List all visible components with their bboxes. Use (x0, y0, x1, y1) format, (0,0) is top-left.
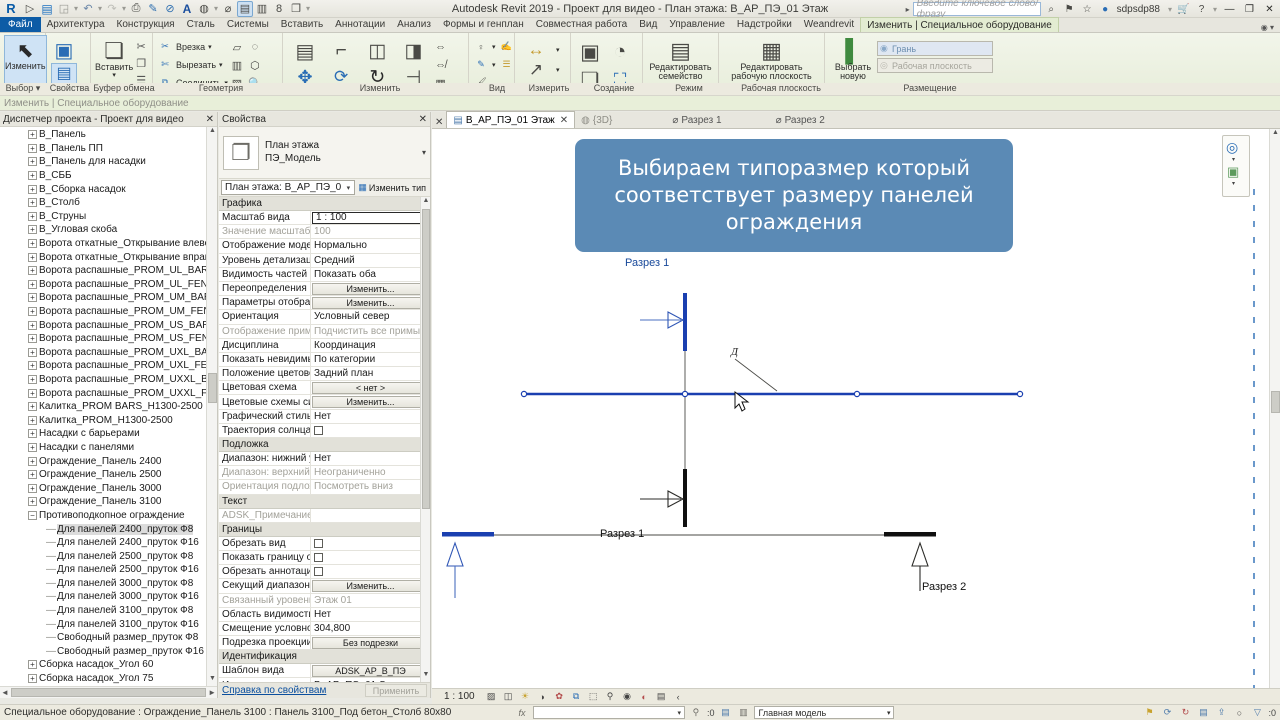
tree-expand-icon[interactable]: + (28, 375, 37, 384)
browser-tree-item[interactable]: +Сборка насадок_Угол 60 (0, 658, 217, 672)
property-row[interactable]: Положение цветовой с...Задний план (219, 367, 430, 381)
undo-icon[interactable]: ↶ (80, 1, 96, 17)
tree-expand-icon[interactable]: + (28, 280, 37, 289)
close-hidden-windows-icon[interactable]: ▥ (254, 1, 270, 17)
account-caret-icon[interactable]: ▾ (1167, 5, 1173, 14)
revit-logo-icon[interactable]: R (2, 1, 20, 17)
visual-style-icon[interactable]: ◫ (502, 690, 515, 703)
tree-expand-icon[interactable]: + (28, 130, 37, 139)
properties-scroll-thumb[interactable] (422, 209, 430, 509)
tree-expand-icon[interactable]: + (28, 212, 37, 221)
view-tab-floorplan[interactable]: ▤ B_AP_ПЭ_01 Этаж ✕ (446, 111, 575, 128)
property-input[interactable]: 1 : 100 (312, 212, 429, 224)
exclude-options-icon[interactable]: ○ (1232, 706, 1246, 720)
browser-tree-item[interactable]: +Ограждение_Панель 3100 (0, 495, 217, 509)
property-row[interactable]: Цветовая схема< нет > (219, 381, 430, 395)
tree-expand-icon[interactable]: + (28, 253, 37, 262)
worksets-status-icon[interactable]: ▤ (1196, 706, 1210, 720)
close-all-views-icon[interactable]: ✕ (432, 117, 446, 128)
navigation-controls[interactable]: ◎ ▾ ▣ ▾ (1222, 135, 1250, 197)
properties-help-link[interactable]: Справка по свойствам (222, 685, 326, 696)
tree-expand-icon[interactable]: + (28, 321, 37, 330)
unpin-icon[interactable]: ⇎ (432, 56, 450, 74)
paint-icon[interactable]: ◌ (246, 38, 264, 56)
property-row[interactable]: Диапазон: верхний уро...Неограниченно (219, 466, 430, 480)
scroll-up-icon[interactable]: ▲ (422, 197, 430, 208)
tree-expand-icon[interactable]: + (28, 157, 37, 166)
qat-overflow-icon[interactable]: ▾ (305, 4, 311, 13)
placement-option-workplane[interactable]: ◎ Рабочая плоскость (877, 58, 993, 73)
property-row[interactable]: ДисциплинаКоординация (219, 339, 430, 353)
property-button[interactable]: Изменить... (312, 297, 429, 309)
drawing-canvas[interactable]: Выбираем типоразмер который соответствуе… (432, 129, 1280, 698)
placement-option-face[interactable]: ◉ Грань (877, 41, 993, 56)
property-value[interactable]: Подчистить все примык... (311, 325, 430, 338)
property-value[interactable]: Этаж 01 (311, 594, 430, 607)
property-row[interactable]: Ориентация подложкиПосмотреть вниз (219, 480, 430, 494)
property-value[interactable]: B_AP_ПЭ_01 Этаж (311, 678, 430, 682)
property-name: Смещение условного ... (219, 622, 311, 635)
property-button[interactable]: ADSK_AP_B_ПЭ (312, 665, 429, 677)
property-checkbox[interactable] (314, 539, 323, 548)
property-row[interactable]: Переопределения види...Изменить... (219, 282, 430, 296)
create-similar-icon[interactable]: ▣ (575, 38, 605, 66)
copy-icon[interactable]: ❐ (133, 55, 149, 71)
browser-tree-item[interactable]: +Ограждение_Панель 2500 (0, 468, 217, 482)
scroll-left-icon[interactable]: ◄ (1, 688, 9, 697)
property-value[interactable] (311, 565, 430, 578)
property-value[interactable]: Изменить... (311, 579, 430, 592)
worksharing-display-icon[interactable]: ▤ (655, 690, 668, 703)
tree-expand-icon[interactable]: + (28, 389, 37, 398)
steering-wheel-icon[interactable]: ◎ (1226, 139, 1238, 156)
browser-tree-item[interactable]: +B_Угловая скоба (0, 223, 217, 237)
property-row[interactable]: Цветовые схемы систе...Изменить... (219, 395, 430, 409)
dropdown-caret-icon[interactable]: ▾ (97, 4, 103, 13)
reveal-hidden-elements-icon[interactable]: ◐ (638, 690, 651, 703)
split-face-icon[interactable]: ▱ (228, 38, 246, 56)
close-icon[interactable]: ✕ (419, 114, 427, 125)
chevron-down-icon[interactable]: ▾ (677, 709, 684, 717)
property-button[interactable]: Без подрезки (312, 637, 429, 649)
cut-icon[interactable]: ✂ (133, 38, 149, 54)
properties-scrollbar[interactable]: ▲ ▼ (420, 197, 430, 682)
properties-group-header[interactable]: Идентификация⌃ (219, 650, 430, 664)
browser-tree-item[interactable]: —Для панелей 2400_пруток Ф16 (0, 536, 217, 550)
view-tab-section-1[interactable]: ⌀ Разрез 1 (666, 112, 727, 128)
measure-along-row[interactable]: ↗ ▾ (519, 59, 560, 81)
browser-tree-item[interactable]: +Ворота распашные_PROM_UXXL_BARS (0, 373, 217, 387)
browser-tree-item[interactable]: +Сборка насадок_Угол 90 (0, 685, 217, 686)
help-icon[interactable]: ? (1194, 2, 1209, 17)
wall-join-icon[interactable]: ▥ (228, 56, 246, 74)
browser-tree-item[interactable]: +Калитка_PROM BARS_H1300-2500 (0, 400, 217, 414)
canvas-vertical-scrollbar[interactable]: ▲ ▼ (1269, 129, 1280, 698)
tree-expand-icon[interactable]: + (28, 497, 37, 506)
property-row[interactable]: Графический стиль от...Нет (219, 410, 430, 424)
tree-expand-icon[interactable]: + (28, 443, 37, 452)
property-row[interactable]: Значение масштаба 1:100 (219, 225, 430, 239)
tree-expand-icon[interactable]: + (28, 239, 37, 248)
browser-horizontal-scrollbar[interactable]: ◄ ► (0, 686, 217, 698)
property-value[interactable]: 1 : 100 (311, 211, 430, 224)
tree-expand-icon[interactable]: + (28, 470, 37, 479)
property-value[interactable]: Нет (311, 608, 430, 621)
browser-hscroll-thumb[interactable] (11, 688, 206, 697)
tree-expand-icon[interactable]: + (28, 266, 37, 275)
property-value[interactable]: Посмотреть вниз (311, 480, 430, 493)
help-caret-icon[interactable]: ▾ (1212, 5, 1218, 14)
design-options-icon[interactable]: ▥ (736, 706, 750, 720)
nav-caret-icon[interactable]: ▾ (1232, 180, 1235, 187)
property-row[interactable]: Секущий диапазонИзменить... (219, 579, 430, 593)
tree-expand-icon[interactable]: + (28, 293, 37, 302)
browser-tree-item[interactable]: −Противоподкопное ограждение (0, 509, 217, 523)
dropdown-caret-icon[interactable]: ▾ (73, 4, 79, 13)
browser-tree-item[interactable]: +B_Панель ПП (0, 142, 217, 156)
tree-expand-icon[interactable]: + (28, 402, 37, 411)
tree-expand-icon[interactable]: + (28, 334, 37, 343)
browser-tree-item[interactable]: +Сборка насадок_Угол 75 (0, 672, 217, 686)
view-tab-3d[interactable]: ◍ {3D} (575, 112, 618, 128)
communication-center-icon[interactable]: ⚑ (1062, 2, 1077, 17)
tree-expand-icon[interactable]: + (28, 416, 37, 425)
offset-icon[interactable]: ⌐ (323, 38, 359, 64)
property-row[interactable]: Смещение условного ...304,800 (219, 622, 430, 636)
tree-expand-icon[interactable]: + (28, 484, 37, 493)
edit-type-button[interactable]: ▦ Изменить тип (358, 182, 428, 193)
browser-tree-item[interactable]: +B_Струны (0, 210, 217, 224)
properties-icon[interactable]: ▣ (50, 37, 78, 63)
property-value[interactable]: Задний план (311, 367, 430, 380)
tree-expand-icon[interactable]: + (28, 361, 37, 370)
tree-collapse-icon[interactable]: − (28, 511, 37, 520)
browser-tree-item[interactable]: +B_Столб (0, 196, 217, 210)
chevron-down-icon[interactable]: ▾ (422, 148, 426, 157)
mirror-pick-axis-icon[interactable]: ◫ (359, 38, 395, 64)
property-row[interactable]: Обрезать вид (219, 537, 430, 551)
browser-tree-item[interactable]: +Ворота распашные_PROM_UL_BARS (0, 264, 217, 278)
tree-expand-icon[interactable]: + (28, 185, 37, 194)
property-row[interactable]: Масштаб вида1 : 100 (219, 211, 430, 225)
cut-geometry-row[interactable]: ✂ Врезка ▾ (157, 38, 228, 55)
section-icon[interactable]: ⌀ (220, 1, 236, 17)
property-button[interactable]: Изменить... (312, 283, 429, 295)
favorites-icon[interactable]: ☆ (1080, 2, 1095, 17)
align-icon[interactable]: ▤ (287, 38, 323, 64)
property-value[interactable]: 100 (311, 225, 430, 238)
browser-tree-item[interactable]: —Для панелей 2400_пруток Ф8 (0, 522, 217, 536)
tree-expand-icon[interactable]: + (28, 198, 37, 207)
account-icon[interactable]: ● (1098, 2, 1113, 17)
tree-expand-icon[interactable]: + (28, 429, 37, 438)
property-row[interactable]: Отображение примык...Подчистить все прим… (219, 325, 430, 339)
scroll-down-icon[interactable]: ▼ (208, 675, 217, 686)
project-browser-tree[interactable]: +B_Панель+B_Панель ПП+B_Панель для насад… (0, 127, 217, 686)
property-row[interactable]: Уровень детализацииСредний (219, 254, 430, 268)
browser-tree-item[interactable]: +Ворота распашные_PROM_UXL_FENCE (0, 359, 217, 373)
lock-3d-view-icon[interactable]: ⚲ (604, 690, 617, 703)
restore-button[interactable]: ❐ (1241, 1, 1258, 17)
infocenter-expand-icon[interactable]: ▸ (906, 5, 910, 14)
ribbon-tab-analyze[interactable]: Анализ (391, 17, 437, 32)
measure-caret-icon[interactable]: ▾ (556, 46, 560, 54)
ribbon-tab-steel[interactable]: Сталь (181, 17, 221, 32)
property-row[interactable]: Видимость частейПоказать оба (219, 268, 430, 282)
close-icon[interactable]: ✕ (560, 115, 568, 126)
minimize-button[interactable]: — (1221, 1, 1238, 17)
ribbon-tab-architecture[interactable]: Архитектура (41, 17, 111, 32)
browser-tree-item[interactable]: —Свободный размер_пруток Ф16 (0, 645, 217, 659)
property-value[interactable]: < нет > (311, 381, 430, 394)
app-store-icon[interactable]: 🛒 (1176, 2, 1191, 17)
view-tab-floorplan-label: B_AP_ПЭ_01 Этаж (466, 115, 555, 126)
ribbon-tab-insert[interactable]: Вставить (275, 17, 329, 32)
browser-tree-item[interactable]: —Для панелей 2500_пруток Ф16 (0, 563, 217, 577)
property-value[interactable]: Условный север (311, 310, 430, 323)
search-input[interactable]: Введите ключевое слово/фразу (913, 2, 1041, 16)
tree-expand-icon[interactable]: + (28, 144, 37, 153)
browser-tree-item[interactable]: +B_СББ (0, 169, 217, 183)
tree-expand-icon[interactable]: + (28, 225, 37, 234)
property-value[interactable]: Неограниченно (311, 466, 430, 479)
ribbon-tab-massing-site[interactable]: Формы и генплан (437, 17, 530, 32)
properties-list[interactable]: Графика⌃Масштаб вида1 : 100Значение масш… (219, 197, 430, 682)
dropdown-caret-icon[interactable]: ▾ (213, 4, 219, 13)
ribbon-tab-annotate[interactable]: Аннотации (329, 17, 391, 32)
property-value[interactable]: Изменить... (311, 395, 430, 408)
property-value[interactable] (311, 509, 430, 522)
beam-join-icon[interactable]: ⬡ (246, 56, 264, 74)
demolish-row[interactable]: ✄ Вырезать ▾ (157, 56, 228, 73)
crop-view-icon[interactable]: ⧉ (570, 690, 583, 703)
scroll-up-icon[interactable]: ▲ (208, 127, 217, 138)
browser-tree-item[interactable]: +Ворота распашные_PROM_UL_FENCE (0, 278, 217, 292)
browser-tree-item[interactable]: +Ограждение_Панель 3000 (0, 481, 217, 495)
properties-group-header[interactable]: Подложка⌃ (219, 438, 430, 452)
property-row[interactable]: ADSK_Примечание к в... (219, 509, 430, 523)
view-selector-combo[interactable]: План этажа: B_AP_ПЭ_01 Этаж ▾ (221, 180, 355, 195)
temporary-hide-isolate-icon[interactable]: ◉ (621, 690, 634, 703)
aligned-dimension-icon[interactable]: ⊘ (162, 1, 178, 17)
property-row[interactable]: Траектория солнца (219, 424, 430, 438)
view-tab-section-2[interactable]: ⌀ Разрез 2 (770, 112, 831, 128)
property-value[interactable] (311, 551, 430, 564)
design-option-combo[interactable]: Главная модель ▾ (754, 706, 894, 719)
editing-requests-icon[interactable]: ⚑ (1142, 706, 1156, 720)
hide-element-row[interactable]: ♀ ▾ ✍ (473, 38, 515, 55)
ribbon-tab-file[interactable]: Файл (0, 17, 41, 32)
browser-tree-item[interactable]: +Ворота откатные_Открывание вправо (0, 250, 217, 264)
close-icon[interactable]: ✕ (206, 114, 214, 125)
property-row[interactable]: Параметры отображен...Изменить... (219, 296, 430, 310)
properties-group-header[interactable]: Графика⌃ (219, 197, 430, 211)
tree-expand-icon[interactable]: + (28, 674, 37, 683)
reload-latest-icon[interactable]: ↻ (1178, 706, 1192, 720)
property-checkbox[interactable] (314, 567, 323, 576)
scroll-right-icon[interactable]: ► (208, 688, 216, 697)
property-row[interactable]: ОриентацияУсловный север (219, 310, 430, 324)
properties-group-header[interactable]: Границы⌃ (219, 523, 430, 537)
browser-tree-item[interactable]: +Ворота откатные_Открывание влево (0, 237, 217, 251)
browser-tree-item[interactable]: —Для панелей 3100_пруток Ф8 (0, 604, 217, 618)
property-row[interactable]: Отображение моделиНормально (219, 239, 430, 253)
infocenter-search-icon[interactable]: ⌕ (1044, 2, 1059, 17)
property-row[interactable]: Имя видаB_AP_ПЭ_01 Этаж (219, 678, 430, 682)
status-filter-input[interactable]: ▾ (533, 706, 685, 719)
split-with-gap-icon[interactable]: ⇔ (432, 38, 450, 56)
property-row[interactable]: Область видимостиНет (219, 608, 430, 622)
property-value[interactable]: Без подрезки (311, 636, 430, 649)
measure-between-row[interactable]: ↔ ▾ (519, 41, 560, 58)
save-icon[interactable]: ▤ (39, 1, 55, 17)
ribbon-tab-collaborate[interactable]: Совместная работа (530, 17, 634, 32)
relinquish-icon[interactable]: ⇪ (1214, 706, 1228, 720)
property-value[interactable]: Нормально (311, 239, 430, 252)
property-value[interactable]: Средний (311, 254, 430, 267)
property-row[interactable]: Связанный уровеньЭтаж 01 (219, 594, 430, 608)
filter-icon[interactable]: ▽ (1250, 706, 1264, 720)
tree-expand-icon[interactable]: + (28, 348, 37, 357)
shadows-icon[interactable]: ◑ (536, 690, 549, 703)
view-scale-label[interactable]: 1 : 100 (444, 691, 475, 702)
browser-tree-item-label: B_Панель для насадки (39, 156, 146, 167)
property-row[interactable]: Обрезать аннотации (219, 565, 430, 579)
default-3d-view-icon[interactable]: ◍ (196, 1, 212, 17)
property-value[interactable]: Нет (311, 452, 430, 465)
property-checkbox[interactable] (314, 553, 323, 562)
browser-vertical-scrollbar[interactable]: ▲ ▼ (206, 127, 217, 686)
property-value[interactable] (311, 424, 430, 437)
property-value[interactable] (311, 537, 430, 550)
ribbon-tab-manage[interactable]: Управление (663, 17, 731, 32)
paste-caret-icon[interactable]: ▾ (112, 72, 116, 79)
tree-expand-icon[interactable]: + (28, 660, 37, 669)
create-group-icon[interactable]: ◔ (605, 38, 635, 66)
type-selector-preview[interactable]: ❐ План этажа ПЭ_Модель ▾ (219, 127, 430, 179)
properties-group-header[interactable]: Текст⌃ (219, 495, 430, 509)
scroll-up-icon[interactable]: ▲ (1271, 129, 1280, 140)
render-dialog-icon[interactable]: ✿ (553, 690, 566, 703)
redo-icon[interactable]: ↷ (104, 1, 120, 17)
property-button[interactable]: < нет > (312, 382, 429, 394)
browser-scroll-thumb[interactable] (208, 373, 217, 403)
ribbon-minimize-icon[interactable]: ◉ ▾ (1261, 23, 1280, 32)
dropdown-caret-icon[interactable]: ▾ (121, 4, 127, 13)
ribbon-tab-view[interactable]: Вид (633, 17, 663, 32)
property-value[interactable]: Нет (311, 410, 430, 423)
browser-tree-item[interactable]: +Калитка_PROM_H1300-2500 (0, 413, 217, 427)
show-crop-region-icon[interactable]: ⬚ (587, 690, 600, 703)
print-icon[interactable]: ⎙ (128, 1, 144, 17)
property-button[interactable]: Изменить... (312, 580, 429, 592)
property-checkbox[interactable] (314, 426, 323, 435)
detail-level-icon[interactable]: ▨ (485, 690, 498, 703)
tree-expand-icon[interactable]: + (28, 457, 37, 466)
chevron-down-icon[interactable]: ▾ (342, 184, 354, 192)
measure-icon[interactable]: ✎ (145, 1, 161, 17)
linework-caret-icon[interactable]: ▾ (492, 61, 496, 69)
property-value[interactable]: Изменить... (311, 296, 430, 309)
property-row[interactable]: Подрезка проекцииБез подрезки (219, 636, 430, 650)
browser-tree-item[interactable]: +Насадки с панелями (0, 441, 217, 455)
browser-tree-item[interactable]: +Ворота распашные_PROM_US_BARS (0, 318, 217, 332)
browser-tree-item[interactable]: +Ворота распашные_PROM_US_FENCE (0, 332, 217, 346)
property-value[interactable]: Показать оба (311, 268, 430, 281)
nav-caret-icon[interactable]: ▾ (1232, 156, 1235, 163)
worksets-icon[interactable]: ▤ (718, 706, 732, 720)
expand-viewbar-icon[interactable]: ‹ (672, 690, 685, 703)
thin-lines-icon[interactable]: ▤ (237, 1, 253, 17)
property-button[interactable]: Изменить... (312, 396, 429, 408)
open-icon[interactable]: ▷ (22, 1, 38, 17)
browser-tree-item[interactable]: —Для панелей 2500_пруток Ф8 (0, 549, 217, 563)
measure-along-caret-icon[interactable]: ▾ (556, 66, 560, 74)
canvas-scroll-thumb[interactable] (1271, 391, 1280, 413)
tree-expand-icon[interactable]: + (28, 171, 37, 180)
browser-tree-item[interactable]: +Ограждение_Панель 2400 (0, 454, 217, 468)
text-icon[interactable]: A (179, 1, 195, 17)
browser-tree-item[interactable]: —Для панелей 3000_пруток Ф16 (0, 590, 217, 604)
property-row[interactable]: Показать невидимые л...По категории (219, 353, 430, 367)
synchronize-icon[interactable]: ⟳ (1160, 706, 1174, 720)
linework-icon: ✎ (473, 57, 489, 73)
property-value[interactable]: 304,800 (311, 622, 430, 635)
property-value[interactable]: По категории (311, 353, 430, 366)
browser-tree-item[interactable]: +B_Панель (0, 128, 217, 142)
ribbon-tab-structure[interactable]: Конструкция (111, 17, 181, 32)
scroll-down-icon[interactable]: ▼ (422, 671, 430, 682)
browser-tree-item[interactable]: +B_Панель для насадки (0, 155, 217, 169)
browser-tree-item[interactable]: +B_Сборка насадок (0, 182, 217, 196)
ribbon-tab-modify-special-equipment[interactable]: Изменить | Специальное оборудование (860, 17, 1059, 32)
zoom-region-icon[interactable]: ▣ (1227, 164, 1239, 180)
browser-tree-item[interactable]: —Свободный размер_пруток Ф8 (0, 631, 217, 645)
mirror-draw-axis-icon[interactable]: ◨ (395, 38, 431, 64)
browser-tree-item[interactable]: +Насадки с барьерами (0, 427, 217, 441)
property-value[interactable]: ADSK_AP_B_ПЭ (311, 664, 430, 677)
chevron-down-icon[interactable]: ▾ (887, 709, 894, 717)
hide-caret-icon[interactable]: ▾ (492, 43, 496, 51)
browser-tree-item[interactable]: +Ворота распашные_PROM_UXL_BARS (0, 346, 217, 360)
browser-tree-item-label: B_Столб (39, 197, 80, 208)
property-row[interactable]: Шаблон видаADSK_AP_B_ПЭ (219, 664, 430, 678)
ribbon-tab-addins[interactable]: Надстройки (731, 17, 798, 32)
apply-button[interactable]: Применить (365, 684, 427, 697)
demolish-caret-icon[interactable]: ▾ (219, 61, 223, 69)
switch-windows-icon[interactable]: 8 (271, 1, 287, 17)
browser-tree-item[interactable]: +Ворота распашные_PROM_UXXL_FENCE (0, 386, 217, 400)
property-value[interactable]: Изменить... (311, 282, 430, 295)
browser-tree-item[interactable]: +Ворота распашные_PROM_UM_BARS (0, 291, 217, 305)
browser-tree-item[interactable]: —Для панелей 3000_пруток Ф8 (0, 577, 217, 591)
ribbon-tab-systems[interactable]: Системы (221, 17, 275, 32)
selection-count-icon[interactable]: ⚲ (689, 706, 703, 720)
tile-windows-icon[interactable]: ❐ (288, 1, 304, 17)
close-button[interactable]: ✕ (1261, 1, 1278, 17)
linework-row[interactable]: ✎ ▾ ☰ (473, 56, 515, 73)
property-row[interactable]: Показать границу обре... (219, 551, 430, 565)
save-as-icon[interactable]: ◲ (56, 1, 72, 17)
property-value[interactable]: Координация (311, 339, 430, 352)
sun-path-icon[interactable]: ☀ (519, 690, 532, 703)
cut-geometry-caret-icon[interactable]: ▾ (208, 43, 212, 51)
tree-expand-icon[interactable]: + (28, 307, 37, 316)
ribbon-tab-weandrevit[interactable]: Weandrevit (798, 17, 860, 32)
browser-tree-item[interactable]: —Для панелей 3100_пруток Ф16 (0, 617, 217, 631)
property-row[interactable]: Диапазон: нижний уро...Нет (219, 452, 430, 466)
browser-tree-item[interactable]: +Ворота распашные_PROM_UM_FENCE (0, 305, 217, 319)
